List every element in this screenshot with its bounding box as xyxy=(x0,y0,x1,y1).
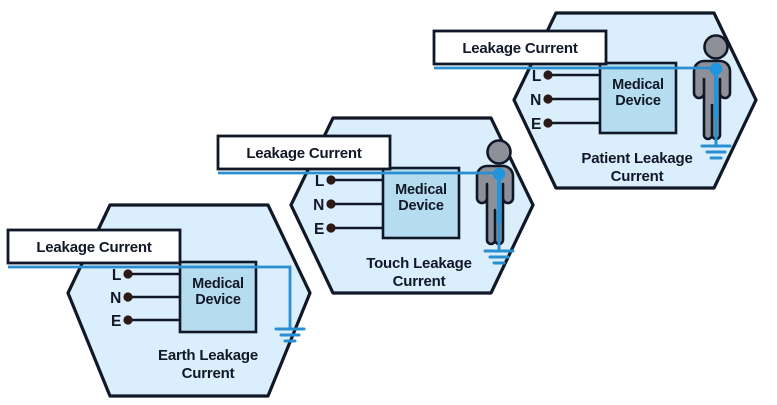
terminal-dot-L-touch xyxy=(326,175,335,184)
medical-device-label-line1: Medical xyxy=(192,276,244,292)
medical-device-label-line2: Device xyxy=(615,93,661,109)
panel-title-patient-line1: Patient Leakage xyxy=(581,150,692,167)
diagram-canvas: Medical Device L N E Leakage C xyxy=(0,0,777,405)
medical-device-label-line1: Medical xyxy=(612,77,664,93)
callout-label-patient: Leakage Current xyxy=(462,40,578,57)
terminal-label-L-patient: L xyxy=(532,68,541,85)
terminal-label-N-touch: N xyxy=(313,197,324,214)
panel-title-earth-line2: Current xyxy=(182,365,235,382)
leakage-current-diagram: Medical Device L N E Leakage C xyxy=(0,0,777,405)
terminal-label-N-patient: N xyxy=(530,92,541,109)
terminal-dot-N-earth xyxy=(123,292,132,301)
panel-title-patient-line2: Current xyxy=(611,168,664,185)
medical-device-label-line2: Device xyxy=(398,198,444,214)
terminal-dot-E-touch xyxy=(326,223,335,232)
panel-title-touch-line2: Current xyxy=(393,273,446,290)
terminal-dot-L-earth xyxy=(123,269,132,278)
panel-title-touch-line1: Touch Leakage xyxy=(366,255,471,272)
callout-label-touch: Leakage Current xyxy=(246,145,362,162)
terminal-dot-N-patient xyxy=(543,94,552,103)
terminal-dot-N-touch xyxy=(326,199,335,208)
person-head-patient xyxy=(705,36,728,59)
terminal-dot-E-earth xyxy=(123,315,132,324)
terminal-label-L-touch: L xyxy=(315,173,324,190)
panel-title-earth-line1: Earth Leakage xyxy=(158,347,258,364)
medical-device-label-line2: Device xyxy=(195,292,241,308)
terminal-label-L-earth: L xyxy=(112,267,121,284)
medical-device-label-line1: Medical xyxy=(395,182,447,198)
terminal-dot-L-patient xyxy=(543,70,552,79)
terminal-label-E-earth: E xyxy=(111,313,121,330)
terminal-label-E-touch: E xyxy=(314,221,324,238)
person-head-touch xyxy=(488,141,511,164)
terminal-label-E-patient: E xyxy=(531,116,541,133)
callout-label-earth: Leakage Current xyxy=(36,239,152,256)
terminal-label-N-earth: N xyxy=(110,290,121,307)
terminal-dot-E-patient xyxy=(543,118,552,127)
